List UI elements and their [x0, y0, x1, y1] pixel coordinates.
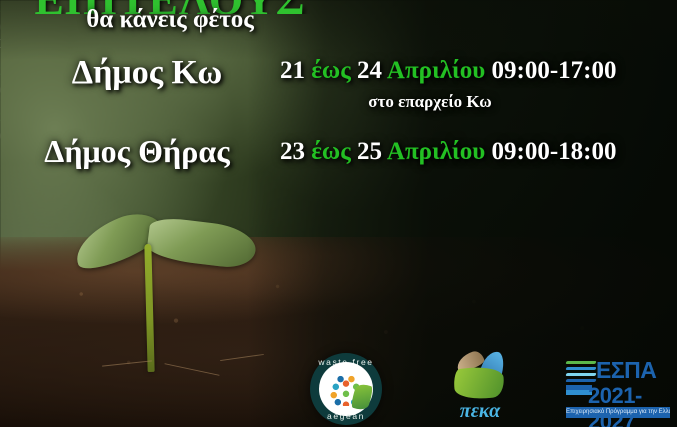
- peka-wordmark: πεκα: [440, 400, 520, 423]
- date-connector: έως: [311, 57, 351, 84]
- waste-free-aegean-logo: waste free aegean: [310, 353, 382, 425]
- espa-title: ΕΣΠΑ: [596, 357, 656, 384]
- date-connector: έως: [311, 138, 351, 165]
- venue-kos: στο επαρχείο Κω: [280, 92, 580, 112]
- subheadline: θα κάνεις φέτος: [0, 6, 340, 34]
- schedule-row-kos: 21 έως 24 Απριλίου 09:00-17:00: [280, 57, 617, 85]
- espa-years: 2021-2027: [588, 383, 670, 427]
- day-start: 21: [280, 57, 305, 84]
- peka-logo: πεκα: [440, 351, 520, 425]
- municipality-name-kos: Δήμος Κω: [16, 54, 278, 92]
- espa-logo: ΕΣΠΑ 2021-2027 Επιχειρησιακό Πρόγραμμα γ…: [566, 359, 670, 421]
- wfa-inner-circle: [319, 362, 373, 416]
- month-label: Απριλίου: [387, 57, 485, 84]
- day-end: 25: [357, 138, 382, 165]
- day-end: 24: [357, 57, 382, 84]
- espa-waves-icon: [566, 361, 596, 385]
- peka-green-leaf-icon: [452, 364, 505, 401]
- wfa-bottom-text: aegean: [310, 411, 382, 421]
- logo-strip: waste free aegean πεκα: [0, 347, 677, 427]
- hours-label: 09:00-17:00: [492, 57, 617, 84]
- espa-tagline: Επιχειρησιακό Πρόγραμμα για την Ελλάδα: [566, 407, 670, 418]
- poster-canvas: ΕΠΙΤΕΛΟΥΣ θα κάνεις φέτος Δήμος Κω Δήμος…: [0, 0, 677, 427]
- municipality-name-thira: Δήμος Θήρας: [6, 133, 268, 170]
- day-start: 23: [280, 138, 305, 165]
- schedule-row-thira: 23 έως 25 Απριλίου 09:00-18:00: [280, 138, 617, 166]
- sprout-leaf-right: [146, 216, 258, 271]
- peka-emblem-icon: [452, 351, 508, 401]
- month-label: Απριλίου: [387, 138, 485, 165]
- hours-label: 09:00-18:00: [492, 138, 617, 165]
